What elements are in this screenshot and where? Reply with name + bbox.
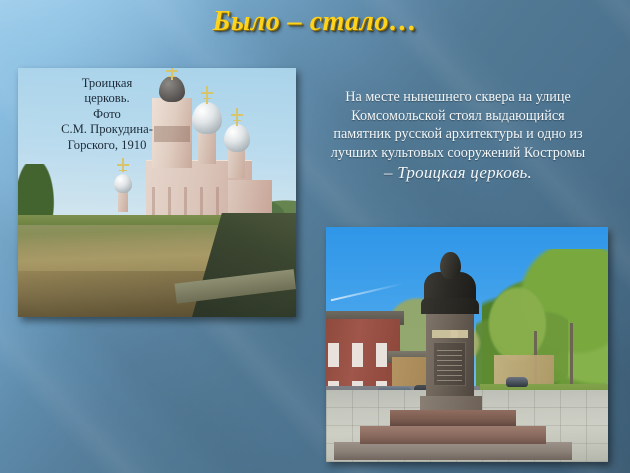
modern-monument-photo bbox=[326, 227, 608, 462]
body-line-2: Комсомольской стоял выдающийся bbox=[296, 107, 620, 126]
caption-line-1: Троицкая bbox=[22, 76, 192, 91]
new-photo-vignette bbox=[326, 227, 608, 462]
slide-title: Было – стало… bbox=[0, 6, 630, 38]
caption-line-3: Фото bbox=[22, 107, 192, 122]
caption-line-4: С.М. Прокудина- bbox=[22, 122, 192, 137]
caption-line-2: церковь. bbox=[22, 91, 192, 106]
historic-photo-caption: Троицкая церковь. Фото С.М. Прокудина- Г… bbox=[22, 76, 192, 153]
body-line-4: лучших культовых сооружений Костромы bbox=[296, 144, 620, 163]
body-paragraph: На месте нынешнего сквера на улице Комсо… bbox=[296, 88, 620, 183]
slide: Было – стало… Троицка bbox=[0, 0, 630, 473]
historic-church-photo: Троицкая церковь. Фото С.М. Прокудина- Г… bbox=[18, 68, 296, 317]
caption-line-5: Горского, 1910 bbox=[22, 138, 192, 153]
body-line-1: На месте нынешнего сквера на улице bbox=[296, 88, 620, 107]
body-line-3: памятник русской архитектуры и одно из bbox=[296, 125, 620, 144]
body-line-accent: – Троицкая церковь. bbox=[296, 162, 620, 183]
